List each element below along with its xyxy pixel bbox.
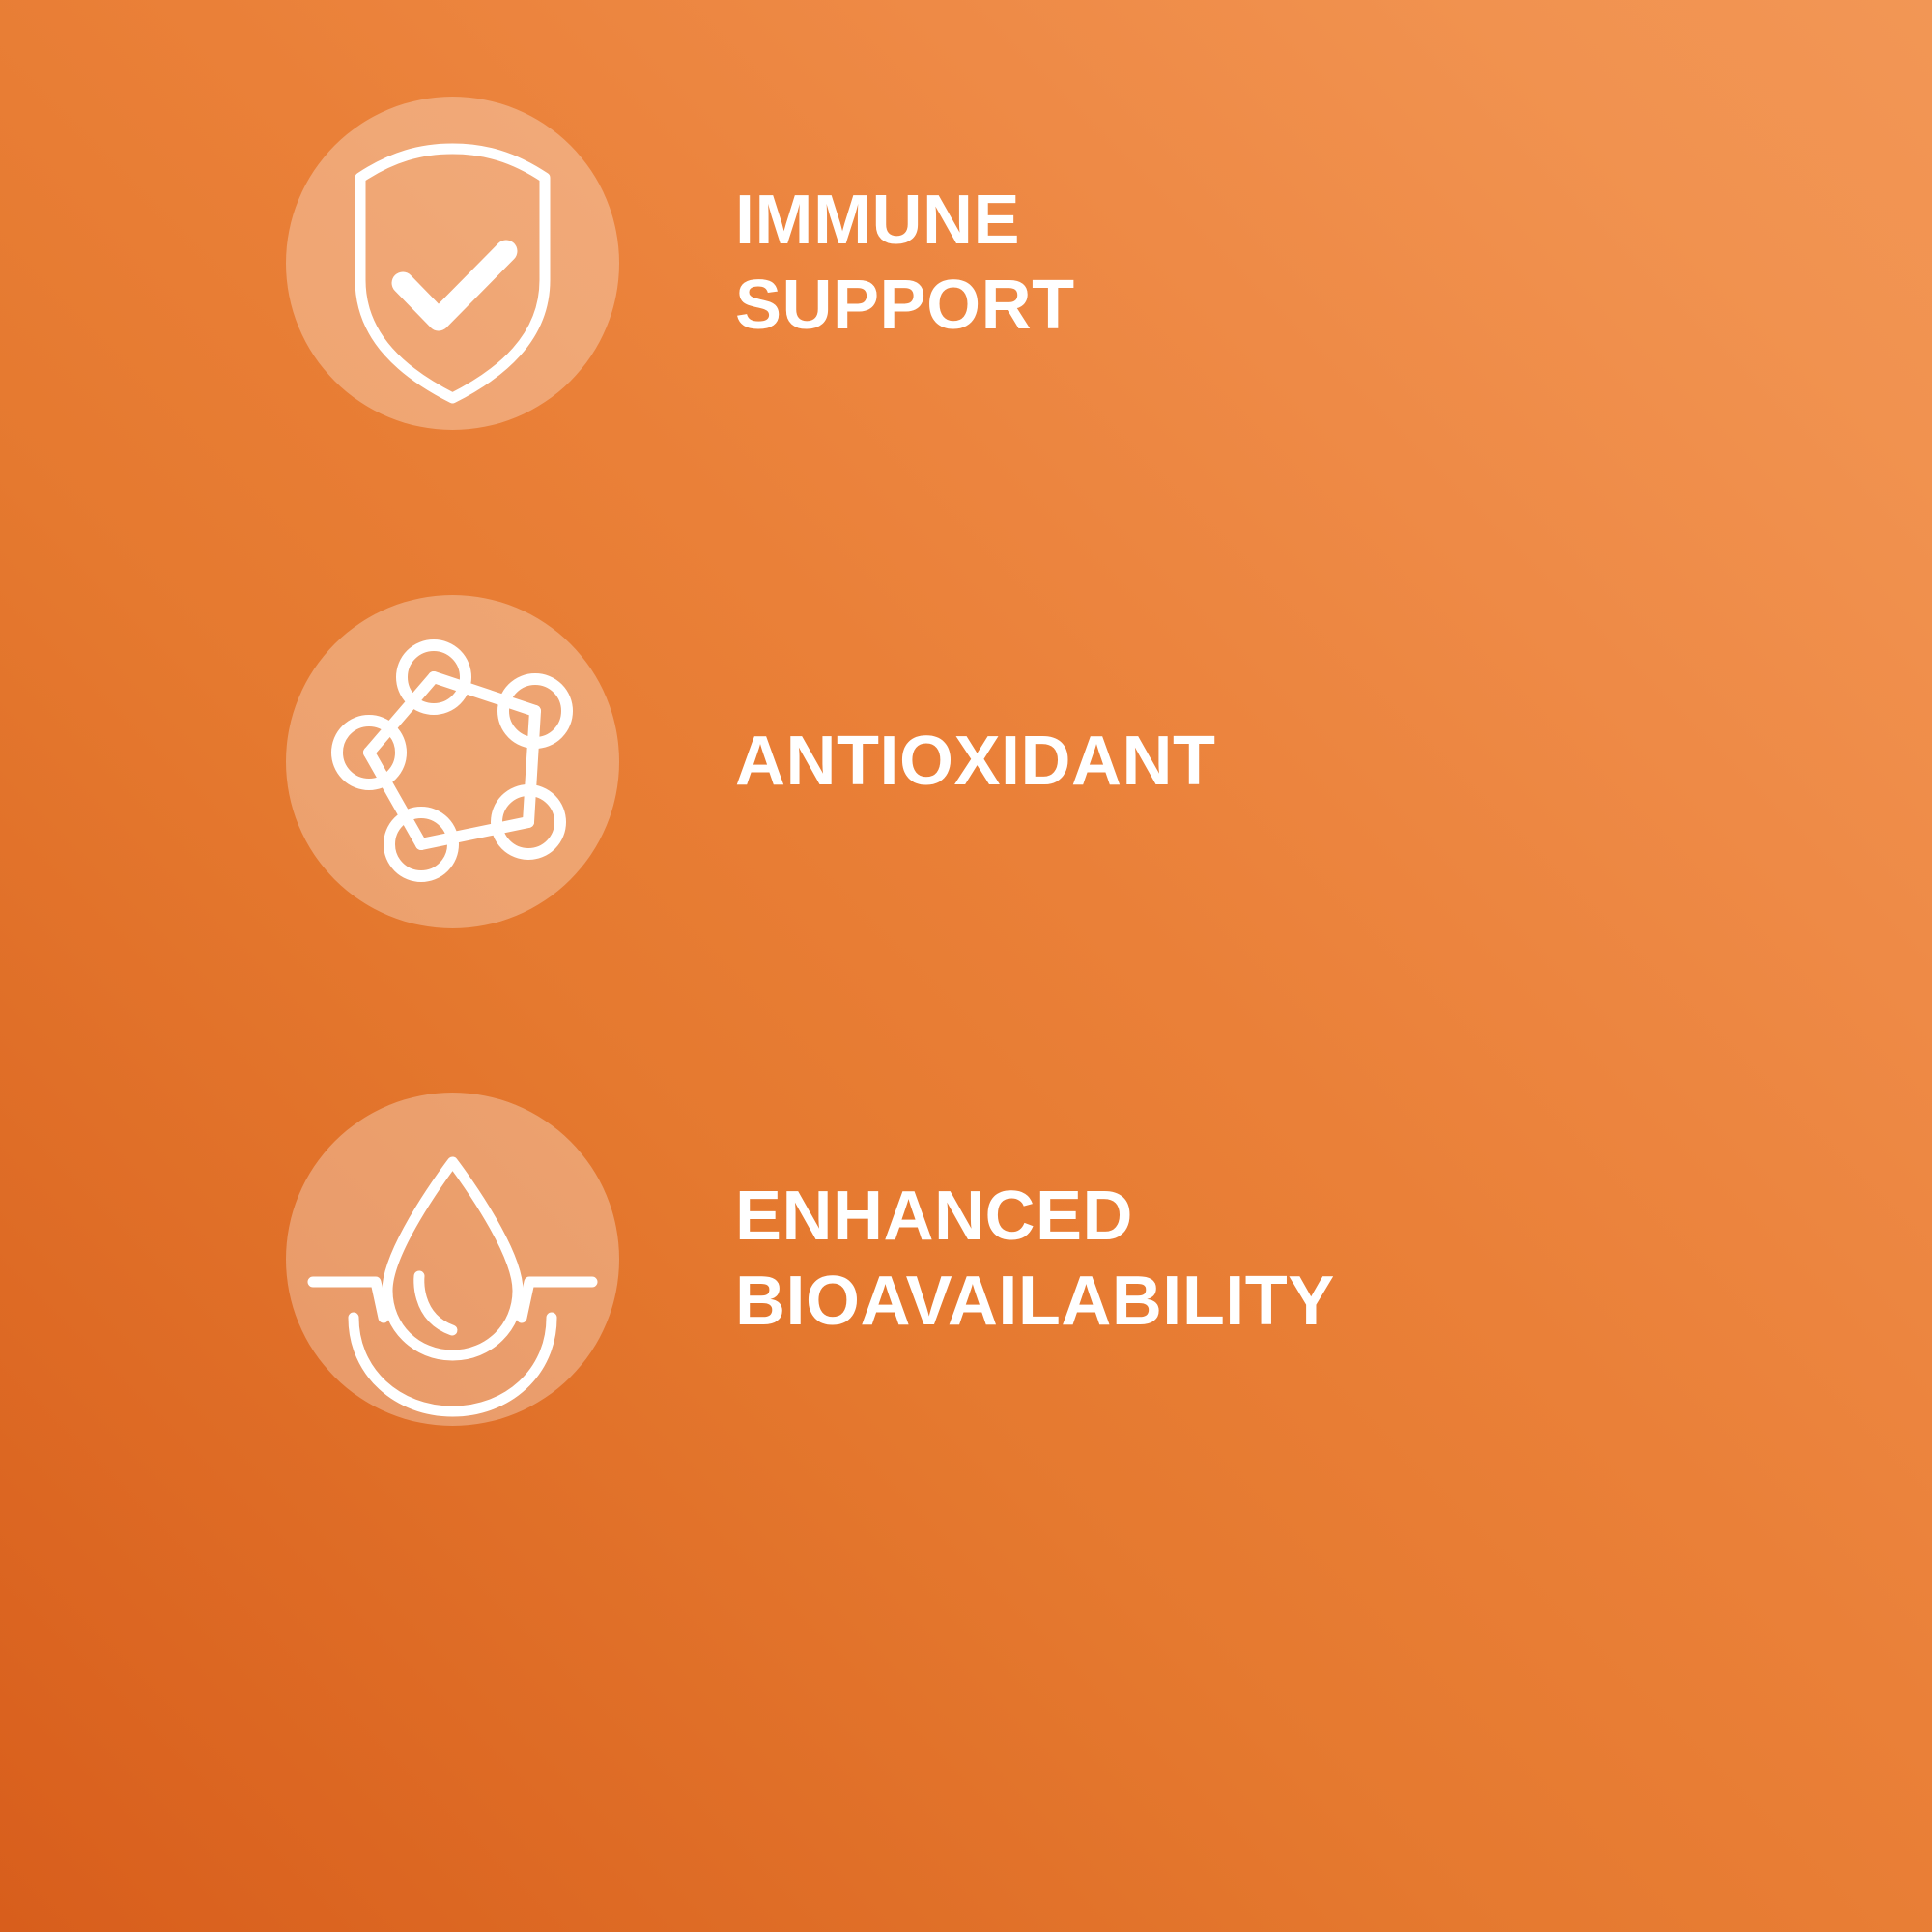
shield-check-icon <box>286 97 619 430</box>
icon-badge-immune-support <box>286 97 619 430</box>
water-droplet-icon <box>286 1093 619 1426</box>
molecule-icon <box>286 595 619 928</box>
feature-row-enhanced-bioavailability: ENHANCED BIOAVAILABILITY <box>286 1093 1335 1426</box>
feature-row-antioxidant: ANTIOXIDANT <box>286 595 1215 928</box>
feature-label-immune-support: IMMUNE SUPPORT <box>735 179 1075 349</box>
icon-badge-antioxidant <box>286 595 619 928</box>
feature-row-immune-support: IMMUNE SUPPORT <box>286 97 1075 430</box>
benefits-infographic: IMMUNE SUPPORT <box>0 0 1932 1932</box>
icon-badge-enhanced-bioavailability <box>286 1093 619 1426</box>
feature-label-enhanced-bioavailability: ENHANCED BIOAVAILABILITY <box>735 1175 1335 1345</box>
feature-label-antioxidant: ANTIOXIDANT <box>735 720 1215 805</box>
